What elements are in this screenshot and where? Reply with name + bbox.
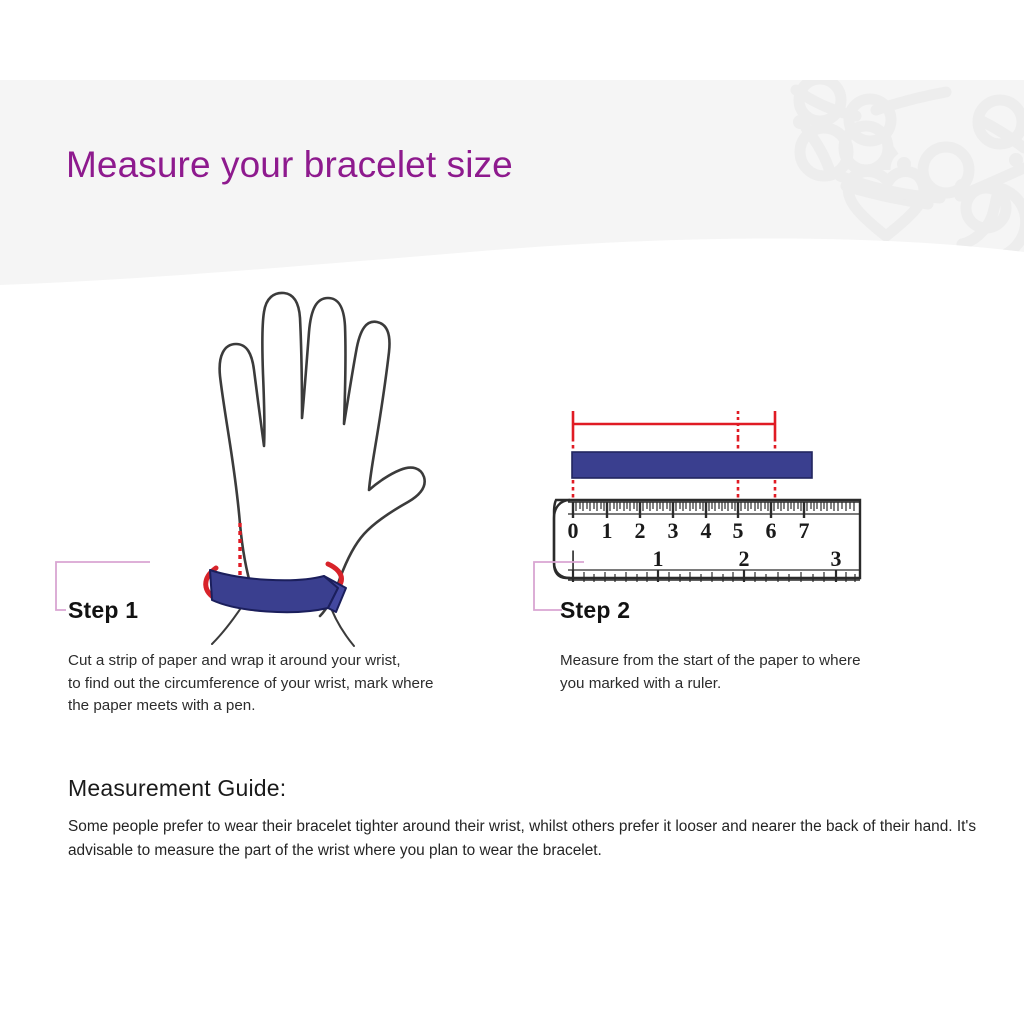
- step-2-description: Measure from the start of the paper to w…: [560, 650, 990, 695]
- step-1-label: Step 1: [68, 597, 138, 624]
- svg-text:3: 3: [668, 518, 679, 543]
- svg-text:1: 1: [602, 518, 613, 543]
- measurement-guide-body: Some people prefer to wear their bracele…: [68, 815, 983, 863]
- paper-strip-flat: [572, 452, 812, 478]
- measurement-guide-title: Measurement Guide:: [68, 775, 286, 802]
- step-1-description: Cut a strip of paper and wrap it around …: [68, 650, 548, 718]
- hand-with-paper-strip-illustration: [168, 278, 428, 648]
- svg-text:4: 4: [701, 518, 712, 543]
- hand-outline: [220, 293, 425, 616]
- svg-text:6: 6: [766, 518, 777, 543]
- measurement-span: [573, 411, 775, 438]
- ruler-with-paper-strip-illustration: 0 1 2 3 4 5 6 7 | 1 2 3: [548, 402, 868, 582]
- svg-text:3: 3: [831, 546, 842, 571]
- step-2-label: Step 2: [560, 597, 630, 624]
- page-title: Measure your bracelet size: [66, 144, 513, 186]
- svg-text:2: 2: [635, 518, 646, 543]
- svg-text:0: 0: [568, 518, 579, 543]
- svg-text:7: 7: [799, 518, 810, 543]
- svg-text:2: 2: [739, 546, 750, 571]
- bracelet-size-guide-page: Measure your bracelet size: [0, 0, 1024, 1024]
- svg-text:5: 5: [733, 518, 744, 543]
- svg-text:1: 1: [653, 546, 664, 571]
